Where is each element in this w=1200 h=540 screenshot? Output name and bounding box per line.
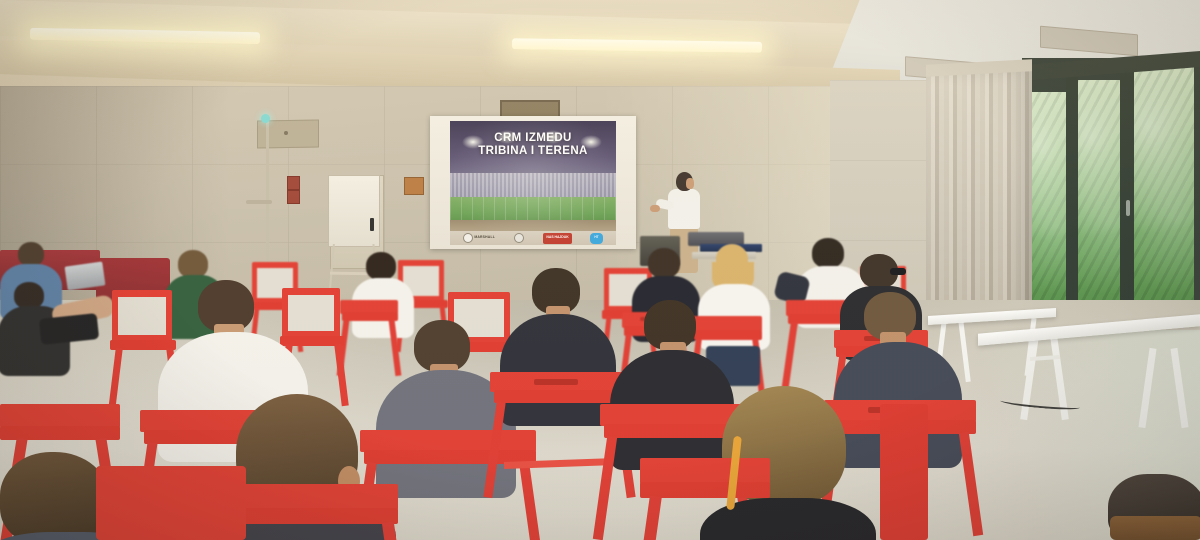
wall-pipe <box>266 118 269 268</box>
sponsor-logo-4-label: HT <box>594 236 598 239</box>
wall-panel-screw <box>284 131 288 135</box>
wall-pipe-bracket <box>246 200 272 204</box>
chair-foreground-far-right[interactable] <box>880 404 928 540</box>
sponsor-logo-1-label: MARSHALL <box>474 236 495 239</box>
chair-foreground-left[interactable] <box>96 466 246 540</box>
presentation-slide: CRM IZMEDU TRIBINA I TERENA MARSHALL NAS… <box>450 121 616 245</box>
fire-sign-icon <box>287 176 300 190</box>
wooden-stool <box>1110 516 1200 540</box>
flipchart-board <box>328 175 380 247</box>
window-handle[interactable] <box>1126 200 1130 216</box>
circle-check-icon <box>463 233 473 243</box>
emergency-light-icon <box>261 114 270 123</box>
slide-title-line-2: TRIBINA I TERENA <box>450 145 616 158</box>
sunglasses-icon <box>890 268 906 275</box>
sponsor-logo-4: HT <box>590 233 602 244</box>
slide-title: CRM IZMEDU TRIBINA I TERENA <box>450 132 616 157</box>
rosette-icon <box>514 233 524 243</box>
fire-sign-icon <box>287 190 300 204</box>
sponsor-logo-3-label: NAS HAJDUK <box>546 236 568 239</box>
flipchart-marker-icon <box>370 218 374 231</box>
sponsor-logo-1: MARSHALL <box>463 234 495 243</box>
sponsor-logo-2 <box>514 234 525 243</box>
room-photo: CRM IZMEDU TRIBINA I TERENA MARSHALL NAS… <box>0 0 1200 540</box>
projection-screen: CRM IZMEDU TRIBINA I TERENA MARSHALL NAS… <box>430 116 636 249</box>
slide-logo-bar: MARSHALL NAS HAJDUK HT <box>450 231 616 245</box>
wall-notice-icon <box>404 177 424 195</box>
sponsor-logo-3: NAS HAJDUK <box>543 233 571 244</box>
presenter-face <box>686 178 694 189</box>
presenter-shirt <box>668 189 700 229</box>
presenter-hand <box>650 205 660 212</box>
slide-title-line-1: CRM IZMEDU <box>450 132 616 145</box>
